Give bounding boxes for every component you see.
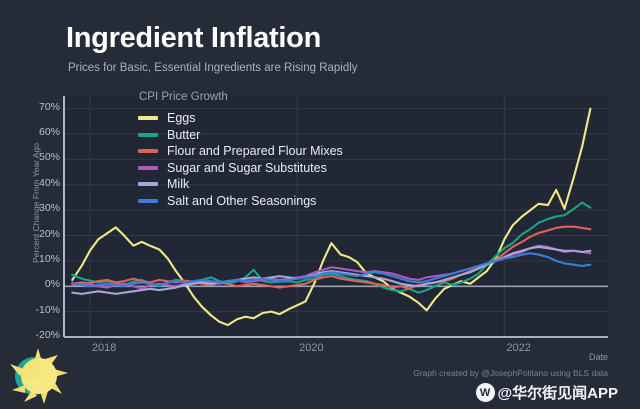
legend-swatch-icon [138, 133, 158, 137]
legend-item-label: Butter [167, 128, 200, 142]
legend-item-label: Eggs [167, 111, 196, 125]
legend-rows: EggsButterFlour and Prepared Flour Mixes… [138, 110, 343, 209]
chart-screenshot: Ingredient Inflation Prices for Basic, E… [0, 0, 640, 409]
y-tick-label: -10% [20, 304, 60, 316]
x-tick-label: 2018 [92, 342, 116, 354]
y-tick-label: 70% [20, 101, 60, 113]
legend-item[interactable]: Sugar and Sugar Substitutes [138, 160, 343, 177]
x-tick-label: 2022 [506, 342, 530, 354]
legend-item-label: Salt and Other Seasonings [167, 194, 316, 208]
legend-item[interactable]: Salt and Other Seasonings [138, 193, 343, 210]
legend-swatch-icon [138, 199, 158, 203]
credit-text: Graph created by @JosephPolitano using B… [413, 368, 608, 378]
x-tick-label: 2020 [299, 342, 323, 354]
legend-swatch-icon [138, 149, 158, 153]
chart-legend: CPI Price Growth EggsButterFlour and Pre… [138, 91, 343, 209]
y-tick-label: -20% [20, 329, 60, 341]
legend-item-label: Milk [167, 177, 189, 191]
legend-item[interactable]: Eggs [138, 110, 343, 127]
legend-title: CPI Price Growth [139, 91, 343, 103]
y-axis-label: Percent Change From Year Ago [31, 123, 41, 283]
watermark: W @华尔街见闻APP [476, 382, 618, 403]
legend-item[interactable]: Flour and Prepared Flour Mixes [138, 143, 343, 160]
legend-item-label: Flour and Prepared Flour Mixes [167, 144, 343, 158]
weibo-icon: W [476, 383, 495, 402]
legend-swatch-icon [138, 116, 158, 120]
legend-swatch-icon [138, 182, 158, 186]
legend-item-label: Sugar and Sugar Substitutes [167, 161, 327, 175]
legend-item[interactable]: Milk [138, 176, 343, 193]
x-axis-label: Date [589, 352, 608, 362]
legend-item[interactable]: Butter [138, 127, 343, 144]
legend-swatch-icon [138, 166, 158, 170]
sun-logo-icon [6, 346, 70, 406]
watermark-text: @华尔街见闻APP [498, 382, 618, 403]
